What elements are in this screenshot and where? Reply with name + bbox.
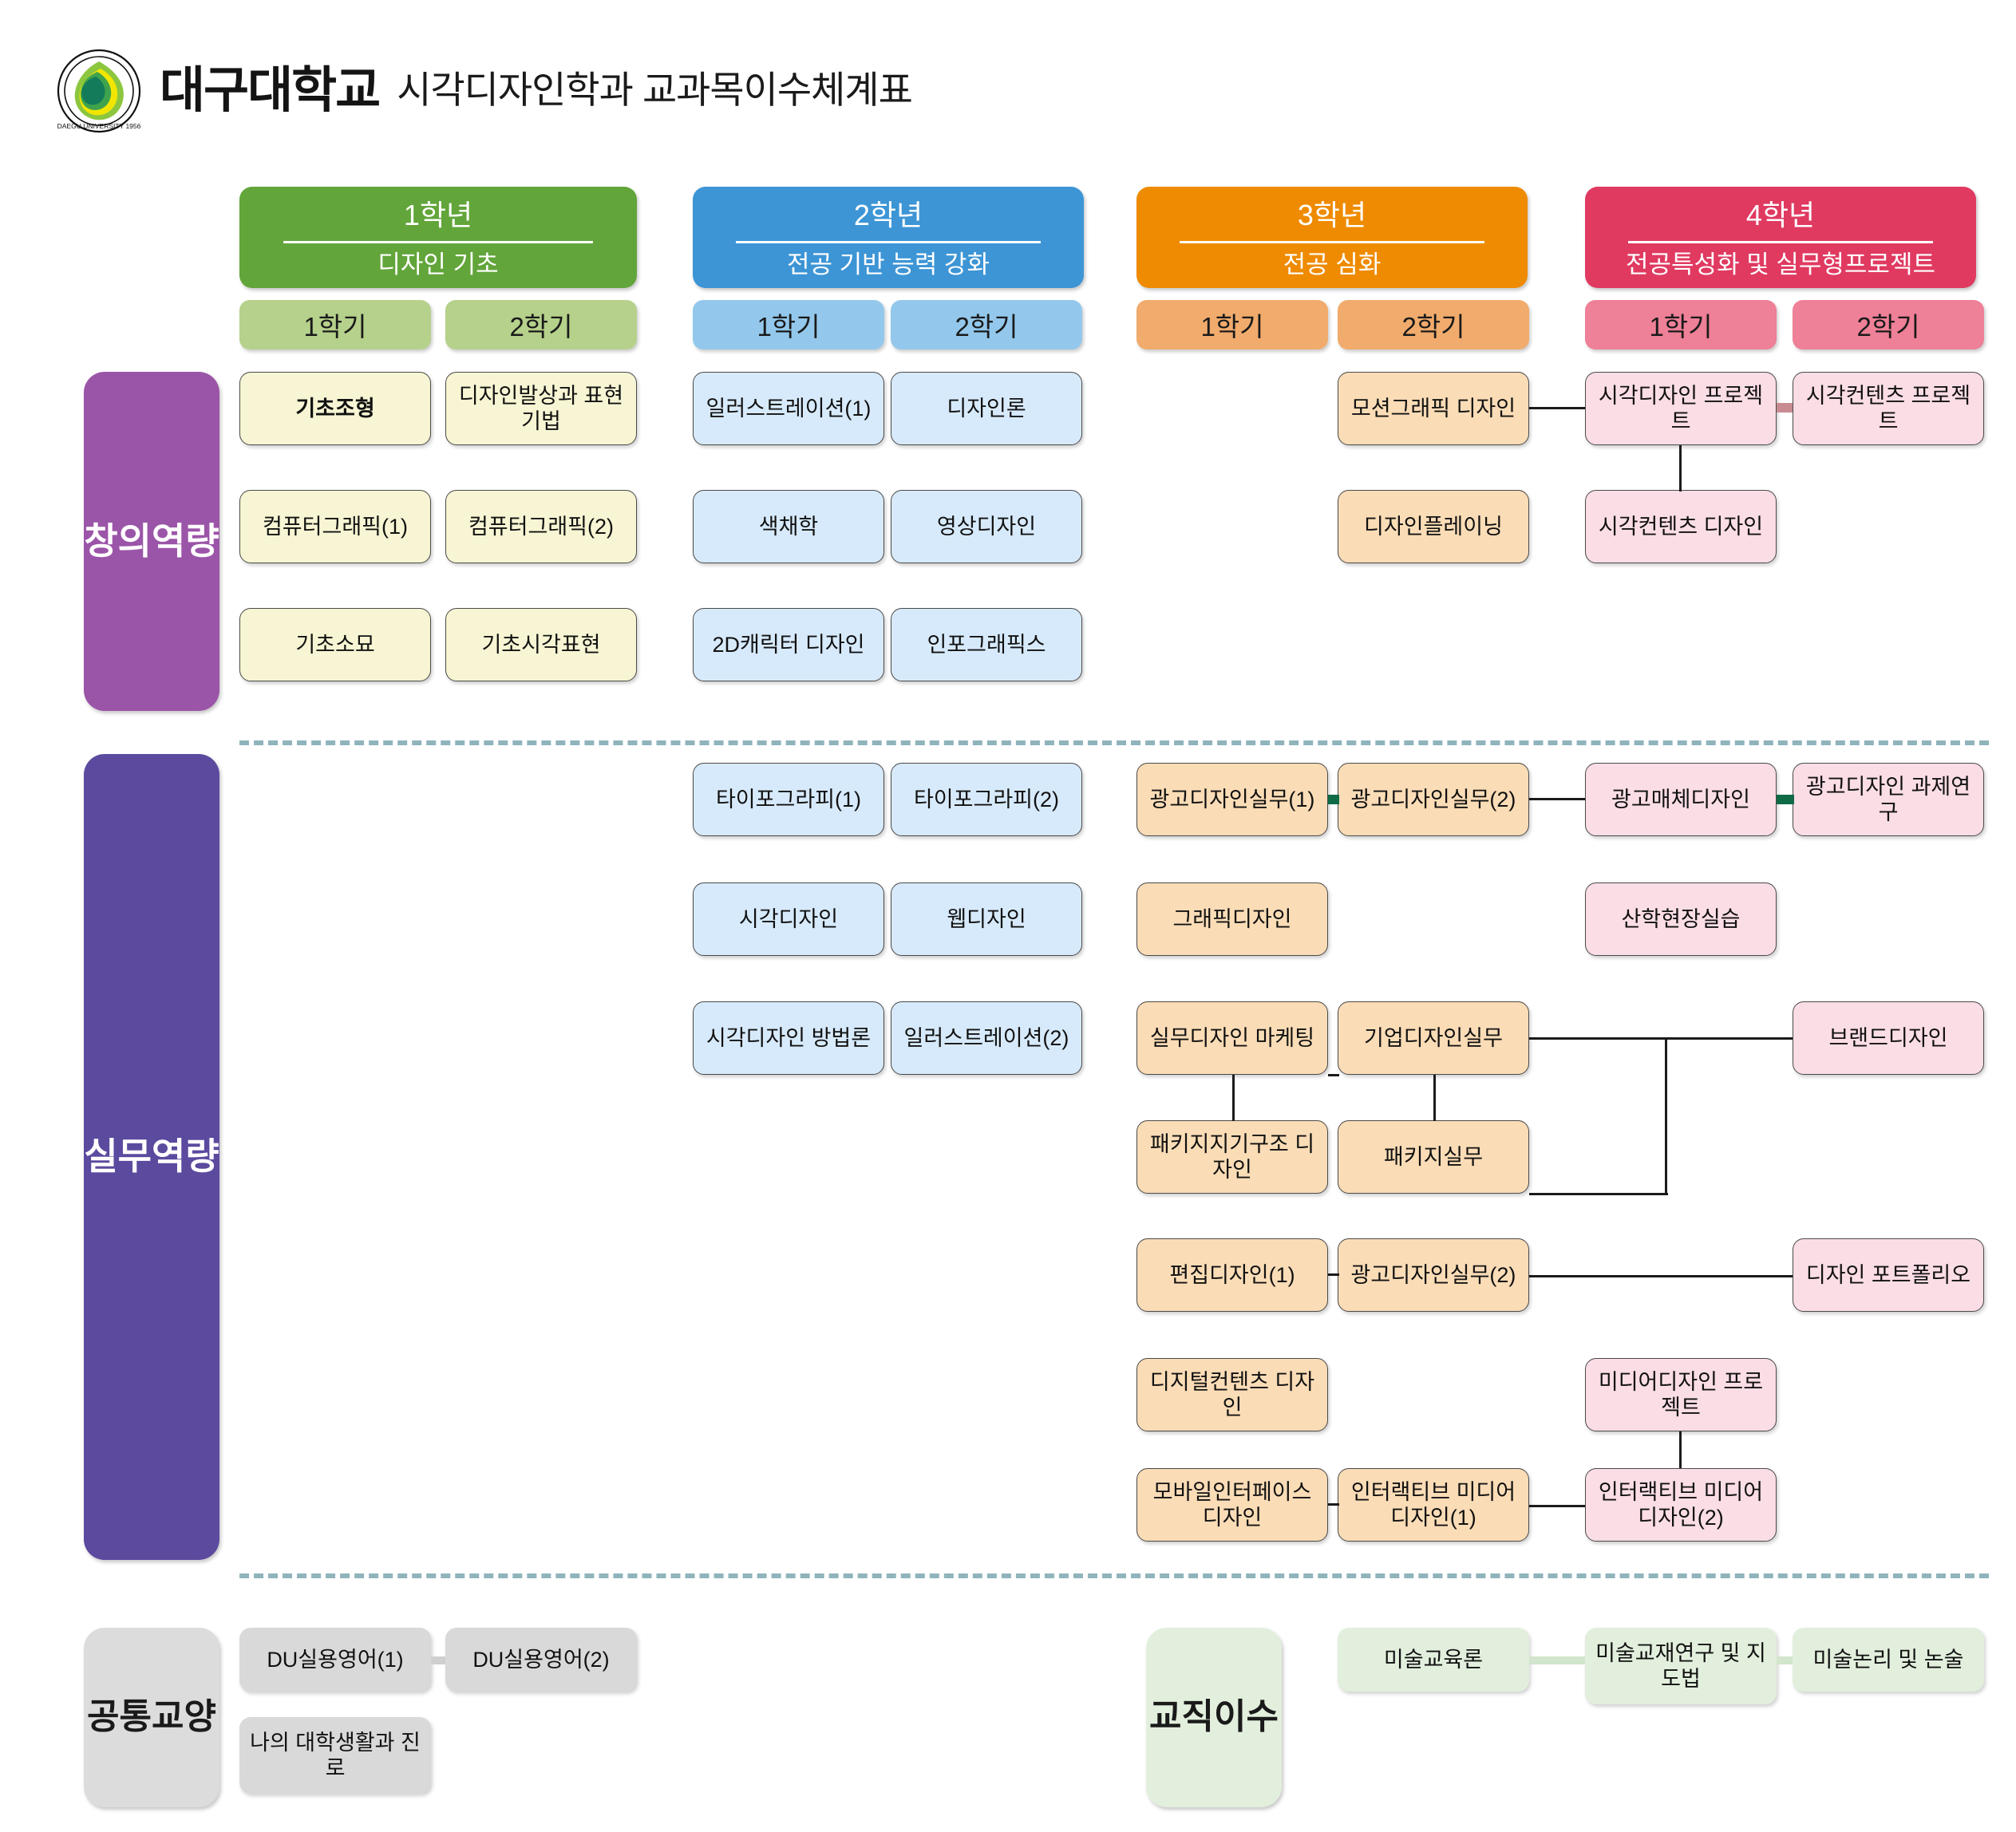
connector-marketing-to-pkg-stub (1328, 1074, 1339, 1076)
semester-y2-s2[interactable]: 2학기 (891, 300, 1082, 349)
course-box[interactable]: 기업디자인실무 (1338, 1001, 1529, 1075)
course-box[interactable]: 시각디자인 방법론 (693, 1001, 884, 1075)
course-box[interactable]: 광고매체디자인 (1585, 763, 1777, 836)
year-header-y1[interactable]: 1학년디자인 기초 (239, 187, 637, 288)
semester-y3-s2[interactable]: 2학기 (1338, 300, 1529, 349)
header-rule (1180, 241, 1484, 243)
connector-ad2-to-admedia (1529, 798, 1585, 800)
course-box[interactable]: 실무디자인 마케팅 (1136, 1001, 1328, 1075)
semester-y2-s1[interactable]: 1학기 (693, 300, 884, 349)
course-box[interactable]: 모션그래픽 디자인 (1338, 372, 1529, 445)
header-rule (1628, 241, 1933, 243)
connector-mobile-to-interactive1 (1328, 1503, 1339, 1506)
course-box[interactable]: 컴퓨터그래픽(2) (445, 490, 637, 563)
divider-practical-common (239, 1573, 1989, 1578)
course-box[interactable]: 웹디자인 (891, 882, 1082, 956)
course-box[interactable]: 미술교육론 (1338, 1628, 1529, 1692)
course-box[interactable]: 기초시각표현 (445, 608, 637, 681)
track-label-line: 공통 (87, 1696, 152, 1739)
course-box[interactable]: 시각컨텐츠 디자인 (1585, 490, 1777, 563)
connector-corporate-down (1433, 1075, 1436, 1121)
connector-research-to-logic (1777, 1656, 1793, 1664)
course-box[interactable]: 광고디자인실무(1) (1136, 763, 1328, 836)
connector-admedia-to-adresearch (1777, 795, 1794, 804)
university-name: 대구대학교 (160, 66, 379, 116)
year-header-y4[interactable]: 4학년전공특성화 및 실무형프로젝트 (1585, 187, 1976, 288)
course-box[interactable]: 시각디자인 프로젝트 (1585, 372, 1777, 445)
course-box[interactable]: 브랜드디자인 (1793, 1001, 1984, 1075)
track-label-line: 교양 (152, 1696, 216, 1739)
connector-corporate-to-brand-h (1529, 1037, 1668, 1040)
course-box[interactable]: 인포그래픽스 (891, 608, 1082, 681)
course-box[interactable]: 일러스트레이션(2) (891, 1001, 1082, 1075)
course-box[interactable]: 디자인론 (891, 372, 1082, 445)
course-box[interactable]: 모바일인터페이스 디자인 (1136, 1468, 1328, 1542)
course-box[interactable]: 미술교재연구 및 지도법 (1585, 1628, 1777, 1704)
connector-motion-to-visualproject (1529, 407, 1585, 409)
course-box[interactable]: 색채학 (693, 490, 884, 563)
course-box[interactable]: DU실용영어(1) (239, 1628, 431, 1692)
semester-y1-s1[interactable]: 1학기 (239, 300, 431, 349)
daegu-university-emblem-icon: DAEGU UNIVERSITY 1956 (56, 48, 142, 134)
course-box[interactable]: 광고디자인실무(2) (1338, 1238, 1529, 1312)
header-rule (283, 241, 593, 243)
year-label: 1학년 (404, 196, 472, 231)
year-subtitle: 전공 심화 (1283, 251, 1382, 278)
header-rule (736, 241, 1041, 243)
semester-y4-s1[interactable]: 1학기 (1585, 300, 1777, 349)
course-box[interactable]: 2D캐릭터 디자인 (693, 608, 884, 681)
track-label-line: 역량 (152, 1134, 219, 1179)
svg-text:DAEGU UNIVERSITY 1956: DAEGU UNIVERSITY 1956 (57, 122, 141, 130)
connector-interactive1-to-interactive2 (1529, 1505, 1585, 1507)
course-box[interactable]: 인터랙티브 미디어디자인(1) (1338, 1468, 1529, 1542)
year-label: 4학년 (1746, 196, 1815, 231)
course-box[interactable]: 디지털컨텐츠 디자인 (1136, 1358, 1328, 1431)
connector-visualproject-down2 (1679, 488, 1682, 492)
course-box[interactable]: 타이포그라피(2) (891, 763, 1082, 836)
year-label: 3학년 (1298, 196, 1366, 231)
course-box[interactable]: 미디어디자인 프로젝트 (1585, 1358, 1777, 1431)
connector-brand-vertical (1665, 1037, 1667, 1195)
page-title: 시각디자인학과 교과목이수체계표 (397, 71, 912, 111)
track-label-line: 역량 (152, 519, 219, 564)
track-sidebar-creative: 창의역량 (84, 372, 219, 711)
course-box[interactable]: 시각디자인 (693, 882, 884, 956)
track-sidebar-common: 공통교양 (84, 1628, 219, 1807)
course-box[interactable]: 미술논리 및 논술 (1793, 1628, 1984, 1692)
course-box[interactable]: 영상디자인 (891, 490, 1082, 563)
year-header-y3[interactable]: 3학년전공 심화 (1136, 187, 1528, 288)
connector-visualproject-to-visualcontents (1777, 403, 1793, 413)
connector-to-brand (1668, 1037, 1793, 1040)
connector-du1-to-du2 (431, 1656, 445, 1664)
course-box[interactable]: 패키지실무 (1338, 1120, 1529, 1194)
course-box[interactable]: 패키지지기구조 디자인 (1136, 1120, 1328, 1194)
track-sidebar-teaching: 교직이수 (1146, 1628, 1282, 1807)
connector-theory-to-research (1529, 1656, 1585, 1664)
connector-mediaproject-down (1679, 1431, 1682, 1468)
course-box[interactable]: 인터랙티브 미디어디자인(2) (1585, 1468, 1777, 1542)
connector-edit-to-ad2 (1328, 1273, 1339, 1276)
course-box[interactable]: 디자인발상과 표현기법 (445, 372, 637, 445)
course-box[interactable]: 디자인 포트폴리오 (1793, 1238, 1984, 1312)
track-label-line: 창의 (84, 519, 152, 564)
track-sidebar-practical: 실무역량 (84, 754, 219, 1560)
year-label: 2학년 (854, 196, 923, 231)
course-box[interactable]: 타이포그라피(1) (693, 763, 884, 836)
course-box[interactable]: 산학현장실습 (1585, 882, 1777, 956)
course-box[interactable]: 나의 대학생활과 진로 (239, 1717, 431, 1794)
track-label-line: 실무 (84, 1134, 152, 1179)
semester-y1-s2[interactable]: 2학기 (445, 300, 637, 349)
course-box[interactable]: 그래픽디자인 (1136, 882, 1328, 956)
divider-creative-practical (239, 740, 1989, 745)
connector-visualproject-down (1679, 445, 1682, 490)
course-box[interactable]: 시각컨텐츠 프로젝트 (1793, 372, 1984, 445)
connector-ad1-to-ad2 (1328, 795, 1339, 804)
course-box[interactable]: DU실용영어(2) (445, 1628, 637, 1692)
connector-ad2-to-portfolio (1529, 1275, 1793, 1277)
course-box[interactable]: 일러스트레이션(1) (693, 372, 884, 445)
connector-marketing-down (1232, 1075, 1235, 1121)
page-header: DAEGU UNIVERSITY 1956 대구대학교 시각디자인학과 교과목이… (56, 48, 912, 134)
semester-y4-s2[interactable]: 2학기 (1793, 300, 1984, 349)
course-box[interactable]: 기초조형 (239, 372, 431, 445)
connector-package-to-brand-h (1529, 1193, 1668, 1195)
year-header-y2[interactable]: 2학년전공 기반 능력 강화 (693, 187, 1084, 288)
course-box[interactable]: 광고디자인 과제연구 (1793, 763, 1984, 836)
year-subtitle: 전공 기반 능력 강화 (787, 251, 990, 278)
semester-y3-s1[interactable]: 1학기 (1136, 300, 1328, 349)
course-box[interactable]: 편집디자인(1) (1136, 1238, 1328, 1312)
year-subtitle: 디자인 기초 (378, 251, 498, 278)
course-box[interactable]: 디자인플레이닝 (1338, 490, 1529, 563)
course-box[interactable]: 기초소묘 (239, 608, 431, 681)
course-box[interactable]: 광고디자인실무(2) (1338, 763, 1529, 836)
course-box[interactable]: 컴퓨터그래픽(1) (239, 490, 431, 563)
year-subtitle: 전공특성화 및 실무형프로젝트 (1626, 251, 1935, 278)
track-label-line: 이수 (1214, 1696, 1279, 1739)
track-label-line: 교직 (1149, 1696, 1214, 1739)
